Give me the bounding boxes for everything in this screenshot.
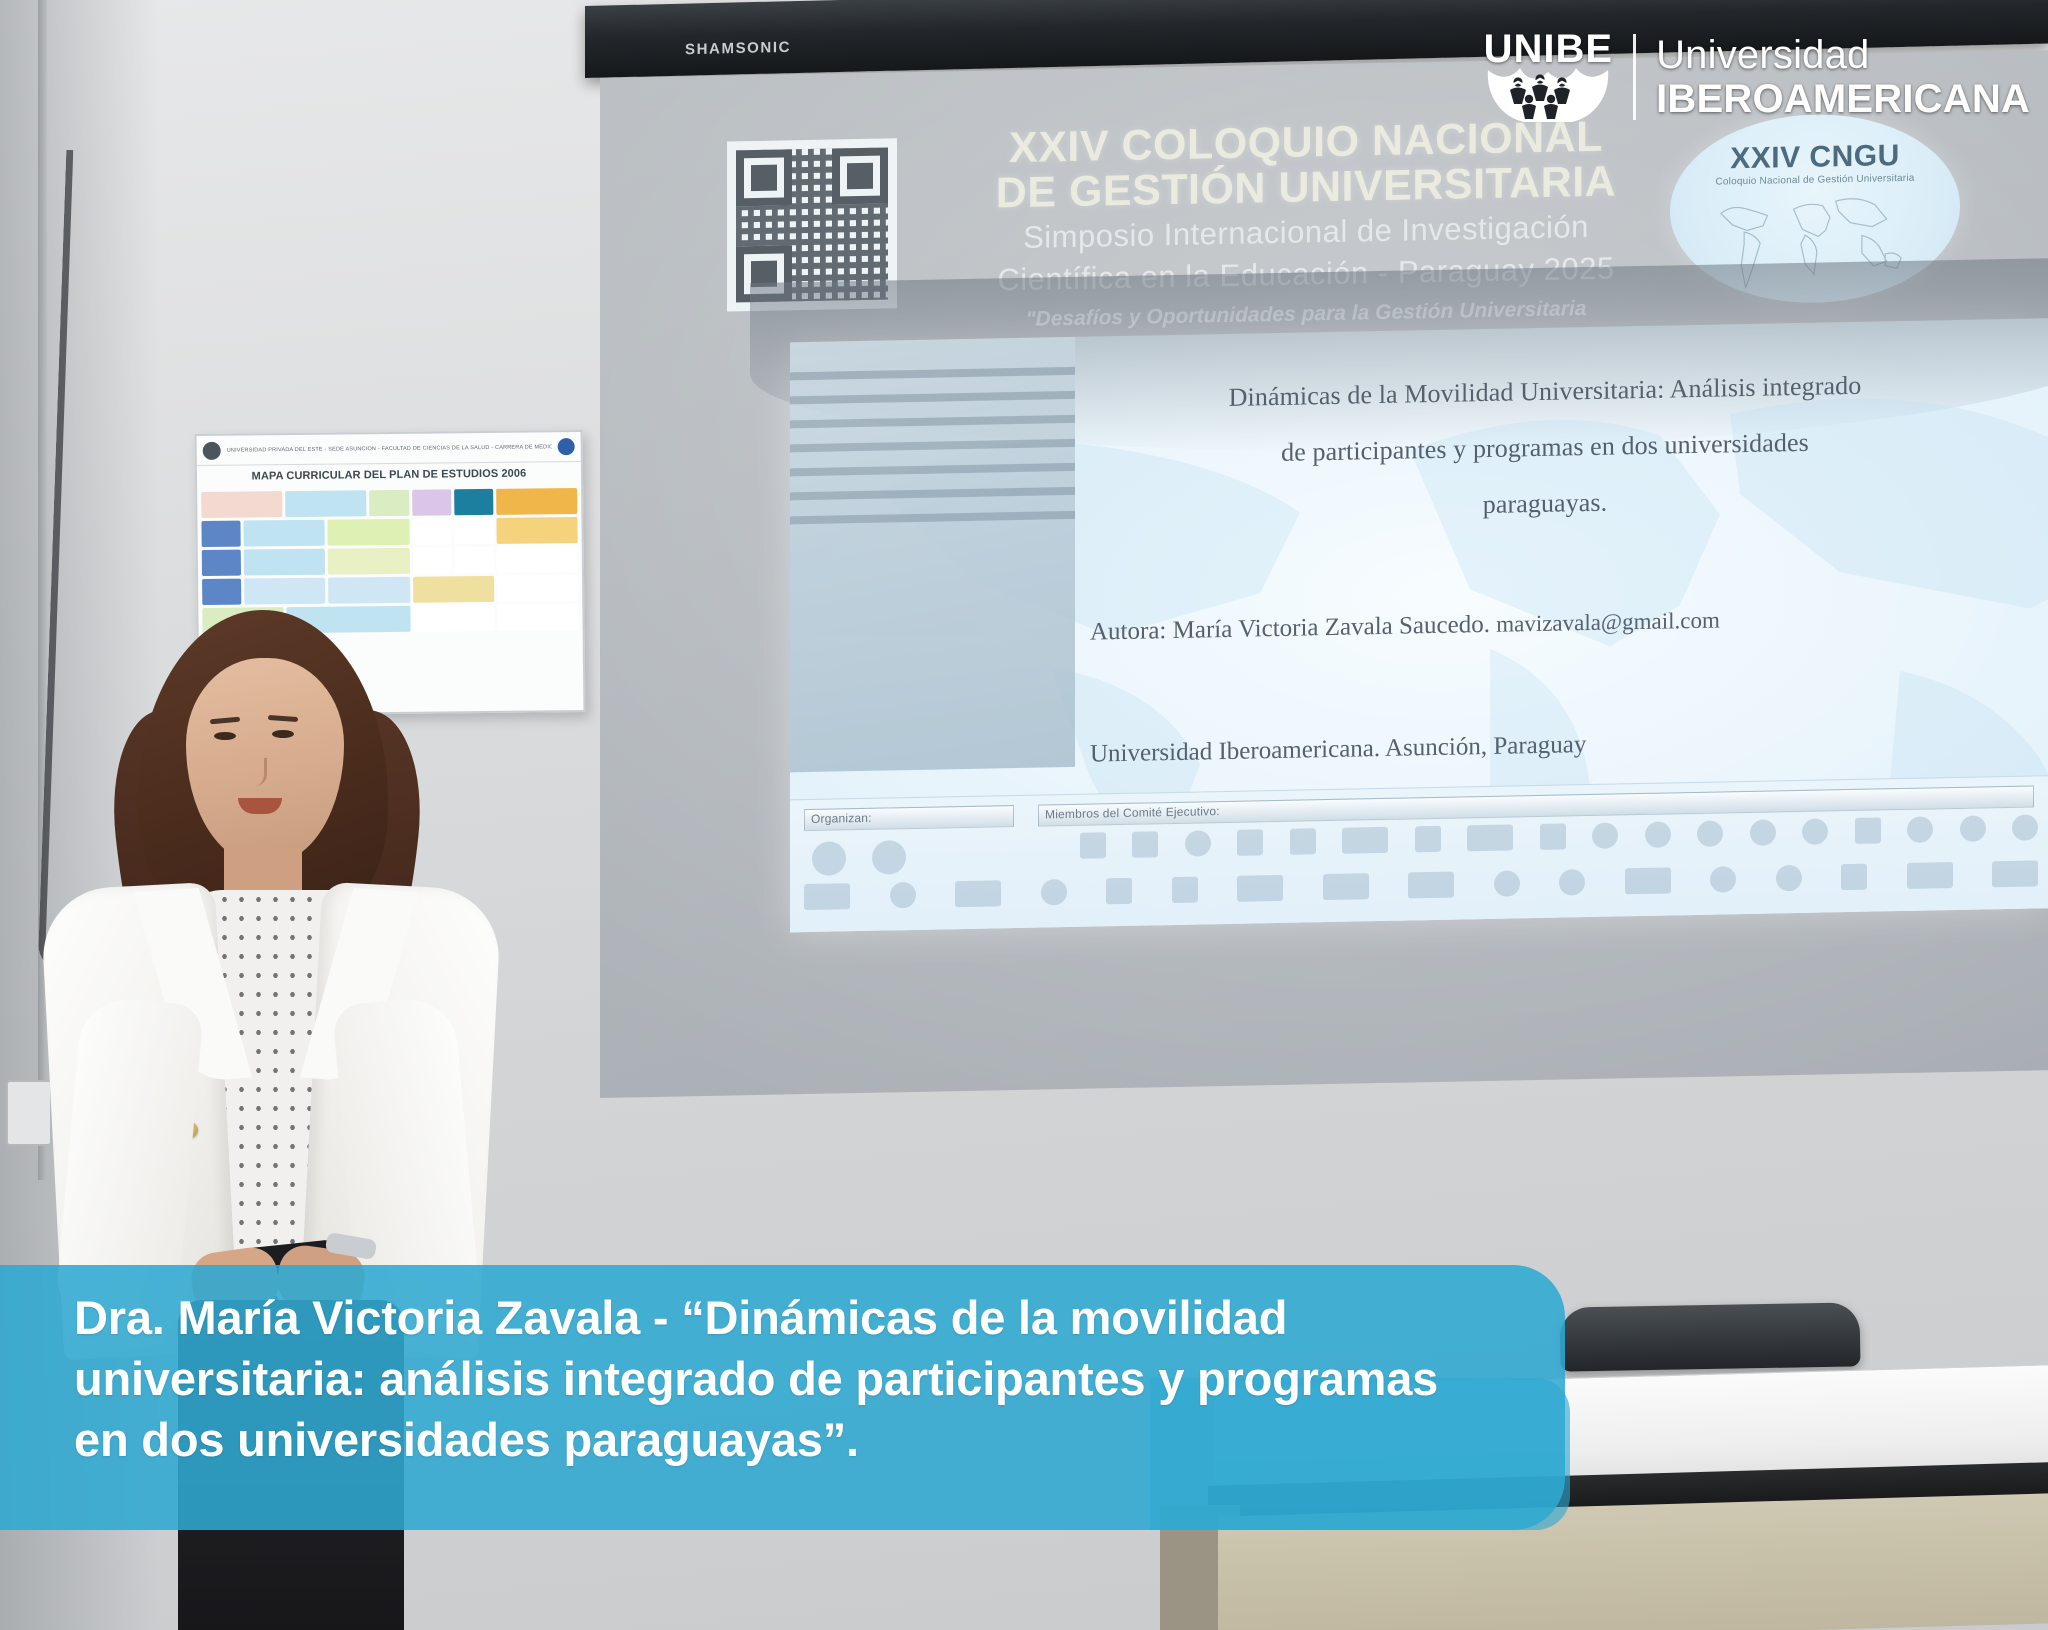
cngu-acronym: XXIV CNGU [1670,138,1960,178]
committee-logo-owl-seal [1172,877,1198,903]
committee-logo-riup [1467,824,1513,851]
committee-logo-upsc [1080,832,1106,858]
brand-universidad: Universidad [1656,35,2030,75]
caption-banner: Dra. María Victoria Zavala - “Dinámicas … [0,1265,1565,1530]
committee-logo-up [1106,878,1132,904]
caption-text: Dra. María Victoria Zavala - “Dinámicas … [74,1287,1495,1470]
committee-logo-circle-seal [1907,816,1933,842]
committee-logo-unae [1494,870,1520,896]
brand-iberoamericana: IBEROAMERICANA [1656,79,2030,119]
committee-logo-uninorte-shield [890,882,916,908]
committee-logo-rectoral [1415,826,1441,852]
committee-logo-utcb [1408,872,1454,899]
organizer-logo-conacyt-seal [872,840,906,875]
committee-logo-uninorte [955,880,1001,907]
slide-author-email: mavizavala@gmail.com [1496,607,1720,636]
organizer-logo-upe-seal [812,841,846,876]
qr-code-icon [727,138,897,311]
committee-logo-dark-seal [2012,814,2038,840]
cngu-emblem: XXIV CNGU Coloquio Nacional de Gestión U… [1670,112,1960,306]
speaker-eye-right [272,730,294,738]
slide-sponsor-footer: Organizan: Miembros del Comité Ejecutivo… [790,775,2048,932]
speaker-nose [246,758,267,786]
poster-header-text: UNIVERSIDAD PRIVADA DEL ESTE - SEDE ASUN… [227,444,552,453]
committee-logo-umbre [1237,875,1283,902]
committee-logo-c-logo [1185,830,1211,856]
organizers-label: Organizan: [804,805,1014,831]
poster-header: UNIVERSIDAD PRIVADA DEL ESTE - SEDE ASUN… [197,432,581,466]
photo-screenshot: SHAMSONIC XXIV COLOQUIO NACIONAL DE GEST… [0,0,2048,1630]
committee-logo-green-seal [1697,820,1723,846]
committee-logo-uni-seal [1776,865,1802,891]
university-seal-icon [203,441,221,459]
committee-logo-lider-uaa [1323,873,1369,900]
committee-logo-unint [1559,869,1585,895]
committee-logo-escudo-logo [1237,829,1263,855]
committee-logo-universidad-seal [1132,831,1158,857]
committee-logo-ucsa [1907,862,1953,889]
committee-logo-column-seal [1841,864,1867,890]
committee-logo-balance-seal [1960,815,1986,841]
committee-logo-ucom [804,883,850,910]
committee-logo-unidp [1992,860,2038,887]
poster-title: MAPA CURRICULAR DEL PLAN DE ESTUDIOS 200… [197,462,581,487]
organizer-logos [812,840,906,876]
committee-logo-gold-seal [1645,821,1671,847]
world-map-icon [1682,180,1949,294]
slide-audience-photo [790,337,1075,772]
committee-logo-crest-gold [1710,866,1736,892]
committee-logo-book-seal [1855,817,1881,843]
committee-logo-crest-seal [1802,818,1828,844]
unibe-people-globe-icon [1484,66,1612,124]
committee-logo-upap [1625,867,1671,894]
conference-subtitle-line2: Científica en la Educación - Paraguay 20… [936,249,1676,300]
unibe-wordmark: UNIBE [1484,30,1613,68]
committee-logo-arrow-seal [1592,822,1618,848]
slide-content: Dinámicas de la Movilidad Universitaria:… [790,318,2048,932]
projector-brand-label: SHAMSONIC [685,39,791,58]
unibe-brand-lockup: UNIBE Universidad IBEROAMERICANA [1484,30,2030,124]
chair-backrest [1559,1302,1860,1371]
speaker-eye-left [214,732,236,740]
slide-title-block: Dinámicas de la Movilidad Universitaria:… [1080,355,2010,541]
secondary-seal-icon [558,438,575,455]
projected-slide: XXIV COLOQUIO NACIONAL DE GESTIÓN UNIVER… [600,50,2048,1098]
committee-logo-upe [1290,828,1316,854]
committee-logo-uta [1342,827,1388,854]
committee-logo-row-2 [804,860,2038,910]
committee-logo-inadea [1540,823,1566,849]
committee-logo-red-flame [1750,819,1776,845]
brand-divider [1633,34,1636,120]
committee-logo-c-moon [1041,879,1067,905]
